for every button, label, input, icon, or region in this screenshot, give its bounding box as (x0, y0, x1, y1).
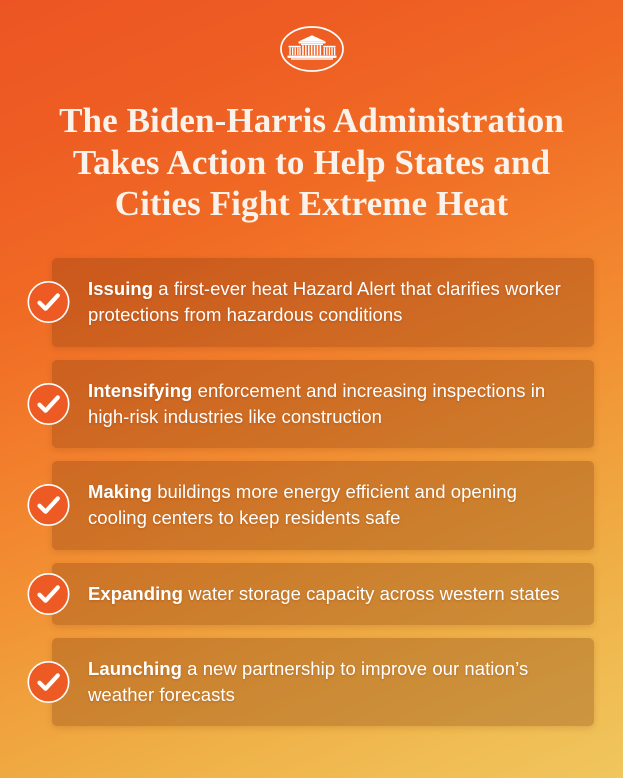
check-circle-icon (27, 572, 70, 615)
list-item: Launching a new partnership to improve o… (0, 638, 623, 727)
action-list: Issuing a first-ever heat Hazard Alert t… (0, 258, 623, 739)
action-card: Making buildings more energy efficient a… (52, 461, 594, 550)
action-card-text: Issuing a first-ever heat Hazard Alert t… (88, 276, 568, 329)
action-lead-word: Expanding (88, 583, 183, 604)
action-card-text: Making buildings more energy efficient a… (88, 479, 568, 532)
action-rest-text: buildings more energy efficient and open… (88, 481, 517, 528)
page-title: The Biden-Harris Administration Takes Ac… (34, 100, 589, 225)
list-item: Intensifying enforcement and increasing … (0, 360, 623, 449)
check-circle-icon (27, 382, 70, 425)
list-item: Expanding water storage capacity across … (0, 563, 623, 625)
action-card: Intensifying enforcement and increasing … (52, 360, 594, 449)
check-circle-icon (27, 484, 70, 527)
action-lead-word: Making (88, 481, 152, 502)
action-card: Issuing a first-ever heat Hazard Alert t… (52, 258, 594, 347)
seal-container (0, 25, 623, 73)
list-item: Making buildings more energy efficient a… (0, 461, 623, 550)
action-lead-word: Issuing (88, 278, 153, 299)
action-lead-word: Launching (88, 658, 182, 679)
action-card-text: Intensifying enforcement and increasing … (88, 378, 568, 431)
list-item: Issuing a first-ever heat Hazard Alert t… (0, 258, 623, 347)
action-card: Expanding water storage capacity across … (52, 563, 594, 625)
action-rest-text: water storage capacity across western st… (183, 583, 560, 604)
action-card: Launching a new partnership to improve o… (52, 638, 594, 727)
poster-canvas: The Biden-Harris Administration Takes Ac… (0, 0, 623, 778)
check-circle-icon (27, 281, 70, 324)
action-card-text: Launching a new partnership to improve o… (88, 656, 568, 709)
action-lead-word: Intensifying (88, 380, 192, 401)
white-house-seal-icon (279, 25, 345, 73)
action-card-text: Expanding water storage capacity across … (88, 581, 560, 607)
action-rest-text: a first-ever heat Hazard Alert that clar… (88, 278, 561, 325)
check-circle-icon (27, 661, 70, 704)
